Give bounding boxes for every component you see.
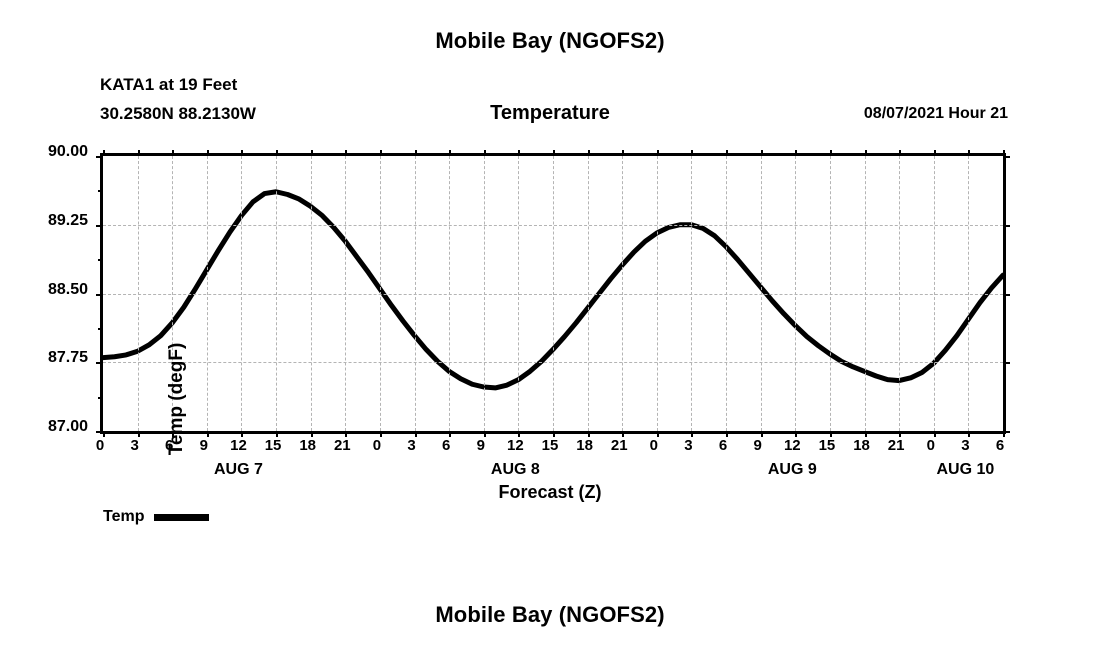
chart-plot-area: Temp (degF): [100, 153, 1006, 434]
y-axis-tick: [96, 294, 103, 296]
y-axis-tick: [96, 431, 103, 433]
x-axis-tick-top: [138, 150, 140, 156]
x-axis-tick-top: [899, 150, 901, 156]
x-axis-title: Forecast (Z): [0, 482, 1100, 503]
x-axis-tick-top: [311, 150, 313, 156]
y-axis-minor-tick: [98, 259, 103, 261]
x-axis-tick-top: [449, 150, 451, 156]
y-axis-tick-label: 87.00: [0, 418, 88, 436]
model-run-timestamp: 08/07/2021 Hour 21: [864, 105, 1008, 123]
x-axis-tick-top: [103, 150, 105, 156]
x-axis-day-label: AUG 9: [722, 461, 862, 479]
y-axis-tick-right: [1003, 431, 1010, 433]
x-axis-tick-top: [830, 150, 832, 156]
x-axis-day-label: AUG 8: [445, 461, 585, 479]
x-axis-tick-top: [726, 150, 728, 156]
x-axis-tick-top: [241, 150, 243, 156]
y-axis-tick-label: 88.50: [0, 281, 88, 299]
y-axis-tick-label: 87.75: [0, 349, 88, 367]
x-axis-tick-top: [484, 150, 486, 156]
legend-line-swatch-temp: [154, 514, 209, 521]
x-axis-tick-top: [345, 150, 347, 156]
x-axis-tick-top: [657, 150, 659, 156]
y-axis-tick-label: 90.00: [0, 143, 88, 161]
y-axis-minor-tick: [98, 328, 103, 330]
chart-canvas: [103, 156, 1003, 431]
gridline-horizontal: [103, 294, 1003, 295]
gridline-horizontal: [103, 362, 1003, 363]
x-axis-tick-top: [968, 150, 970, 156]
x-axis-tick-label: 6: [980, 437, 1020, 454]
x-axis-tick-top: [380, 150, 382, 156]
y-axis-tick: [96, 225, 103, 227]
chart-legend: Temp: [103, 508, 209, 526]
y-axis-tick-label: 89.25: [0, 212, 88, 230]
station-label: KATA1 at 19 Feet: [100, 75, 237, 95]
y-axis-tick-right: [1003, 225, 1010, 227]
x-axis-tick-top: [415, 150, 417, 156]
y-axis-tick: [96, 362, 103, 364]
page-title-top: Mobile Bay (NGOFS2): [0, 28, 1100, 54]
x-axis-tick-top: [622, 150, 624, 156]
y-axis-minor-tick: [98, 397, 103, 399]
y-axis-minor-tick: [98, 190, 103, 192]
page-title-bottom: Mobile Bay (NGOFS2): [0, 602, 1100, 628]
x-axis-tick-top: [761, 150, 763, 156]
legend-item-label-temp: Temp: [103, 508, 144, 526]
x-axis-tick-top: [795, 150, 797, 156]
y-axis-tick-right: [1003, 362, 1010, 364]
x-axis-tick-top: [276, 150, 278, 156]
x-axis-tick-top: [553, 150, 555, 156]
x-axis-tick-top: [172, 150, 174, 156]
x-axis-tick-top: [588, 150, 590, 156]
y-axis-tick: [96, 156, 103, 158]
y-axis-tick-right: [1003, 156, 1010, 158]
x-axis-tick-top: [207, 150, 209, 156]
x-axis-tick-top: [691, 150, 693, 156]
gridline-horizontal: [103, 225, 1003, 226]
x-axis-tick-top: [865, 150, 867, 156]
x-axis-tick-top: [518, 150, 520, 156]
x-axis-day-label: AUG 7: [168, 461, 308, 479]
x-axis-tick-top: [934, 150, 936, 156]
y-axis-tick-right: [1003, 294, 1010, 296]
x-axis-day-label: AUG 10: [895, 461, 1035, 479]
